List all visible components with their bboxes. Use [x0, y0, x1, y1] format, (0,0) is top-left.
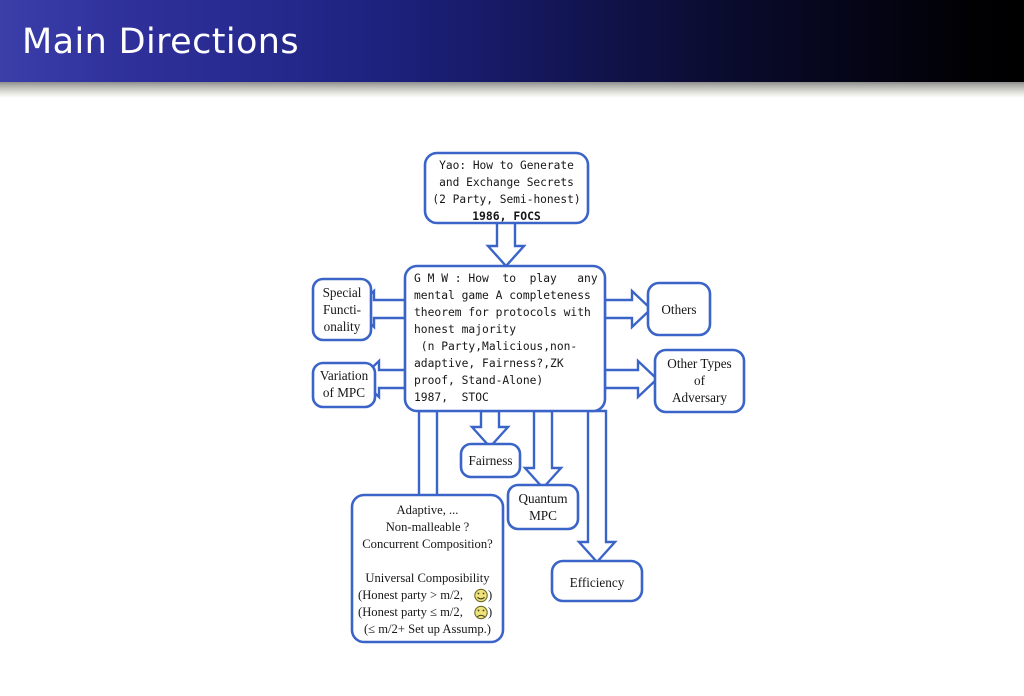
node-other-types-line-1: Other Types — [667, 356, 731, 371]
edge-gmw-to-efficiency — [579, 411, 615, 562]
edge-yao-to-gmw — [488, 218, 524, 266]
smiley-happy-eye-right — [483, 593, 485, 595]
node-yao-line-3: (2 Party, Semi-honest) — [432, 193, 580, 206]
page-title: Main Directions — [22, 22, 299, 62]
smiley-happy-icon — [475, 589, 487, 601]
edge-gmw-to-other-types-of-adversary — [605, 361, 657, 397]
node-adaptive-line-1: Adaptive, ... — [397, 503, 459, 517]
main-directions-flowchart: Yao: How to Generate and Exchange Secret… — [0, 98, 1024, 696]
smiley-sad-eye-left — [478, 610, 480, 612]
node-yao-line-2: and Exchange Secrets — [439, 176, 574, 189]
smiley-sad-icon — [475, 606, 487, 618]
node-adaptive-line-8: (≤ m/2+ Set up Assump.) — [364, 622, 491, 636]
node-yao-line-4: 1986, FOCS — [472, 209, 541, 223]
node-gmw-line-4: honest majority — [414, 323, 516, 336]
node-gmw-line-1: G M W : How to play any — [414, 272, 598, 285]
node-gmw-line-3: theorem for protocols with — [414, 306, 591, 319]
header-shadow-divider — [0, 82, 1024, 98]
node-gmw[interactable] — [405, 266, 605, 411]
edge-gmw-to-others — [605, 291, 651, 327]
smiley-happy-eye-left — [478, 593, 480, 595]
node-gmw-line-5: (n Party,Malicious,non- — [414, 340, 577, 353]
node-adaptive-composition[interactable] — [352, 495, 503, 642]
node-adaptive-line-2: Non-malleable ? — [386, 520, 470, 534]
node-fairness-label: Fairness — [469, 453, 513, 468]
node-gmw-line-7: proof, Stand-Alone) — [414, 374, 543, 387]
node-adaptive-line-6-close: ) — [488, 588, 492, 602]
node-gmw-line-2: mental game A completeness — [414, 289, 591, 302]
edge-gmw-to-quantum-mpc — [525, 411, 561, 488]
node-adaptive-line-6: (Honest party > m/2, — [358, 588, 463, 602]
node-yao-line-1: Yao: How to Generate — [439, 159, 574, 172]
node-adaptive-line-7: (Honest party ≤ m/2, — [358, 605, 463, 619]
node-adaptive-line-5: Universal Composibility — [365, 571, 490, 585]
node-gmw-line-8: 1987, STOC — [414, 391, 489, 404]
diagram-stage: Yao: How to Generate and Exchange Secret… — [0, 98, 1024, 696]
node-adaptive-line-3: Concurrent Composition? — [362, 537, 493, 551]
node-other-types-line-3: Adversary — [672, 390, 727, 405]
node-variation-of-mpc-line-2: of MPC — [323, 385, 365, 400]
node-efficiency-label: Efficiency — [570, 575, 625, 590]
smiley-sad-eye-right — [483, 610, 485, 612]
node-special-functionality-line-1: Special — [323, 285, 362, 300]
node-quantum-mpc-line-2: MPC — [529, 508, 557, 523]
node-special-functionality-line-2: Functi- — [323, 302, 361, 317]
node-others-label: Others — [661, 302, 696, 317]
node-other-types-line-2: of — [694, 373, 706, 388]
node-variation-of-mpc-line-1: Variation — [320, 368, 369, 383]
node-adaptive-line-7-close: ) — [488, 605, 492, 619]
node-quantum-mpc-line-1: Quantum — [518, 491, 568, 506]
edge-gmw-to-fairness — [472, 411, 508, 447]
node-gmw-line-6: adaptive, Fairness?,ZK — [414, 357, 564, 370]
node-special-functionality-line-3: onality — [324, 319, 361, 334]
